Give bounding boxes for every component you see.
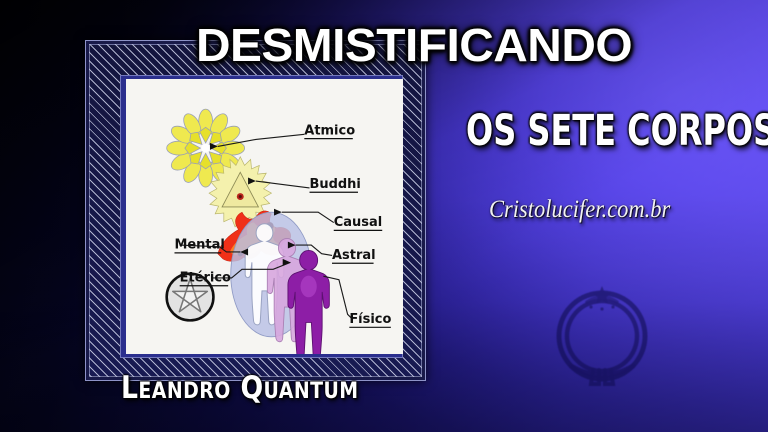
seven-bodies-diagram: Atmico Buddhi Causal Mental Astral Etéri… [126,79,403,354]
diagram-label-atmico: Atmico [304,123,355,138]
picture-frame: Atmico Buddhi Causal Mental Astral Etéri… [85,40,426,381]
diagram-label-astral: Astral [332,248,376,263]
page-subtitle: OS SETE CORPOS [466,107,768,156]
website-url: Cristolucifer.com.br [489,196,670,224]
diagram-label-buddhi: Buddhi [310,177,361,192]
diagram-label-eterico: Etérico [180,270,231,285]
ring-omega-logo [541,262,663,390]
youtube-thumbnail: Atmico Buddhi Causal Mental Astral Etéri… [0,0,768,432]
diagram-label-causal: Causal [334,215,382,230]
diagram-label-fisico: Físico [349,312,391,327]
author-name: Leandro Quantum [121,370,359,406]
diagram-label-mental: Mental [174,238,224,253]
page-title: DESMISTIFICANDO [196,18,632,72]
